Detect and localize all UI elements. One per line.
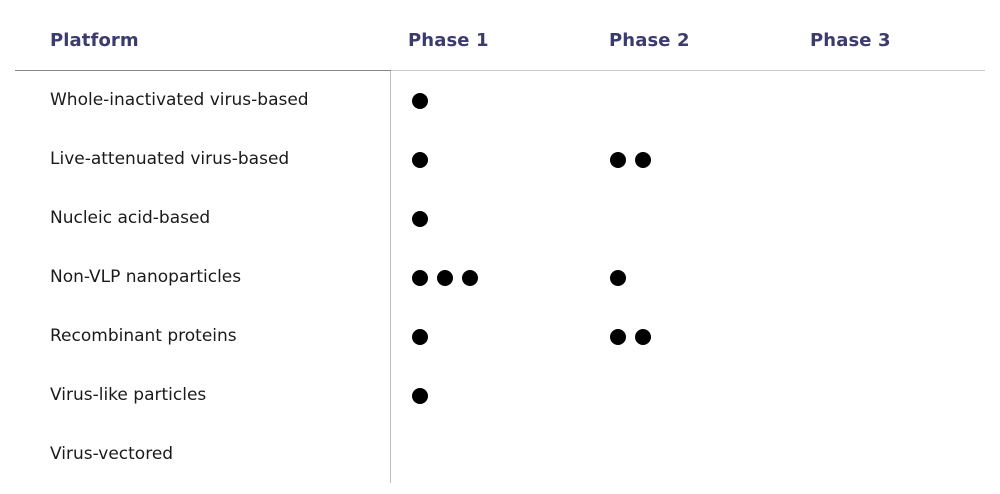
filled-circle-dot-icon — [412, 388, 428, 404]
filled-circle-dot-icon — [412, 270, 428, 286]
row-label-platform: Nucleic acid-based — [50, 189, 210, 248]
row-label-platform: Recombinant proteins — [50, 307, 237, 366]
column-header-phase-2: Phase 2 — [609, 30, 690, 51]
filled-circle-dot-icon — [412, 211, 428, 227]
row-label-platform: Whole-inactivated virus-based — [50, 71, 309, 130]
cell-phase2 — [610, 307, 651, 366]
filled-circle-dot-icon — [635, 329, 651, 345]
cell-phase1 — [412, 189, 428, 248]
table-row: Whole-inactivated virus-based — [0, 71, 1000, 130]
row-label-platform: Non-VLP nanoparticles — [50, 248, 241, 307]
filled-circle-dot-icon — [412, 93, 428, 109]
cell-phase1 — [412, 71, 428, 130]
table-row: Non-VLP nanoparticles — [0, 248, 1000, 307]
table-header-row: Platform Phase 1 Phase 2 Phase 3 — [0, 0, 1000, 71]
cell-phase1 — [412, 130, 428, 189]
row-label-platform: Virus-vectored — [50, 425, 173, 484]
filled-circle-dot-icon — [412, 329, 428, 345]
table-row: Nucleic acid-based — [0, 189, 1000, 248]
column-header-platform: Platform — [50, 30, 139, 51]
vaccine-platform-phase-table: Platform Phase 1 Phase 2 Phase 3 Whole-i… — [0, 0, 1000, 494]
cell-phase2 — [610, 130, 651, 189]
filled-circle-dot-icon — [437, 270, 453, 286]
filled-circle-dot-icon — [610, 329, 626, 345]
table-row: Recombinant proteins — [0, 307, 1000, 366]
filled-circle-dot-icon — [462, 270, 478, 286]
column-header-phase-1: Phase 1 — [408, 30, 489, 51]
filled-circle-dot-icon — [412, 152, 428, 168]
row-label-platform: Live-attenuated virus-based — [50, 130, 289, 189]
table-row: Virus-like particles — [0, 366, 1000, 425]
cell-phase1 — [412, 366, 428, 425]
cell-phase2 — [610, 248, 626, 307]
table-row: Live-attenuated virus-based — [0, 130, 1000, 189]
filled-circle-dot-icon — [610, 270, 626, 286]
table-row: Virus-vectored — [0, 425, 1000, 484]
row-label-platform: Virus-like particles — [50, 366, 206, 425]
column-header-phase-3: Phase 3 — [810, 30, 891, 51]
cell-phase1 — [412, 307, 428, 366]
filled-circle-dot-icon — [635, 152, 651, 168]
cell-phase1 — [412, 248, 478, 307]
filled-circle-dot-icon — [610, 152, 626, 168]
